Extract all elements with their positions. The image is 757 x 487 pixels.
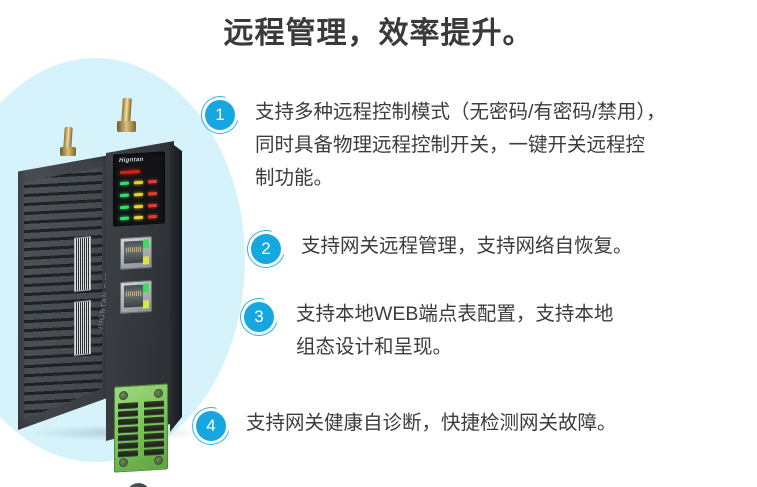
feature-item-1: 1 支持多种远程控制模式（无密码/有密码/禁用）， 同时具备物理远程控制开关，一…: [201, 96, 743, 195]
feature-badge-1: 1: [201, 96, 239, 134]
feature-badge-2: 2: [247, 230, 285, 268]
promo-banner: 远程管理，效率提升。 HIGNTAN GATEWAY Higntan: [0, 0, 757, 487]
feature-item-4: 4 支持网关健康自诊断，快捷检测网关故障。: [192, 407, 716, 445]
badge-number-2: 2: [251, 234, 281, 264]
feature-text-3: 支持本地WEB端点表配置，支持本地 组态设计和呈现。: [296, 298, 716, 364]
badge-number-4: 4: [196, 411, 226, 441]
feature-item-3: 3 支持本地WEB端点表配置，支持本地 组态设计和呈现。: [240, 298, 716, 364]
feature-badge-3: 3: [240, 298, 278, 336]
feature-badge-4: 4: [192, 407, 230, 445]
feature-item-2: 2 支持网关远程管理，支持网络自恢复。: [247, 230, 731, 268]
feature-text-2: 支持网关远程管理，支持网络自恢复。: [301, 230, 731, 263]
feature-text-1: 支持多种远程控制模式（无密码/有密码/禁用）， 同时具备物理远程控制开关，一键开…: [255, 96, 743, 195]
badge-number-3: 3: [244, 302, 274, 332]
feature-list: 1 支持多种远程控制模式（无密码/有密码/禁用）， 同时具备物理远程控制开关，一…: [0, 0, 757, 487]
feature-text-4: 支持网关健康自诊断，快捷检测网关故障。: [246, 407, 716, 440]
badge-number-1: 1: [205, 100, 235, 130]
